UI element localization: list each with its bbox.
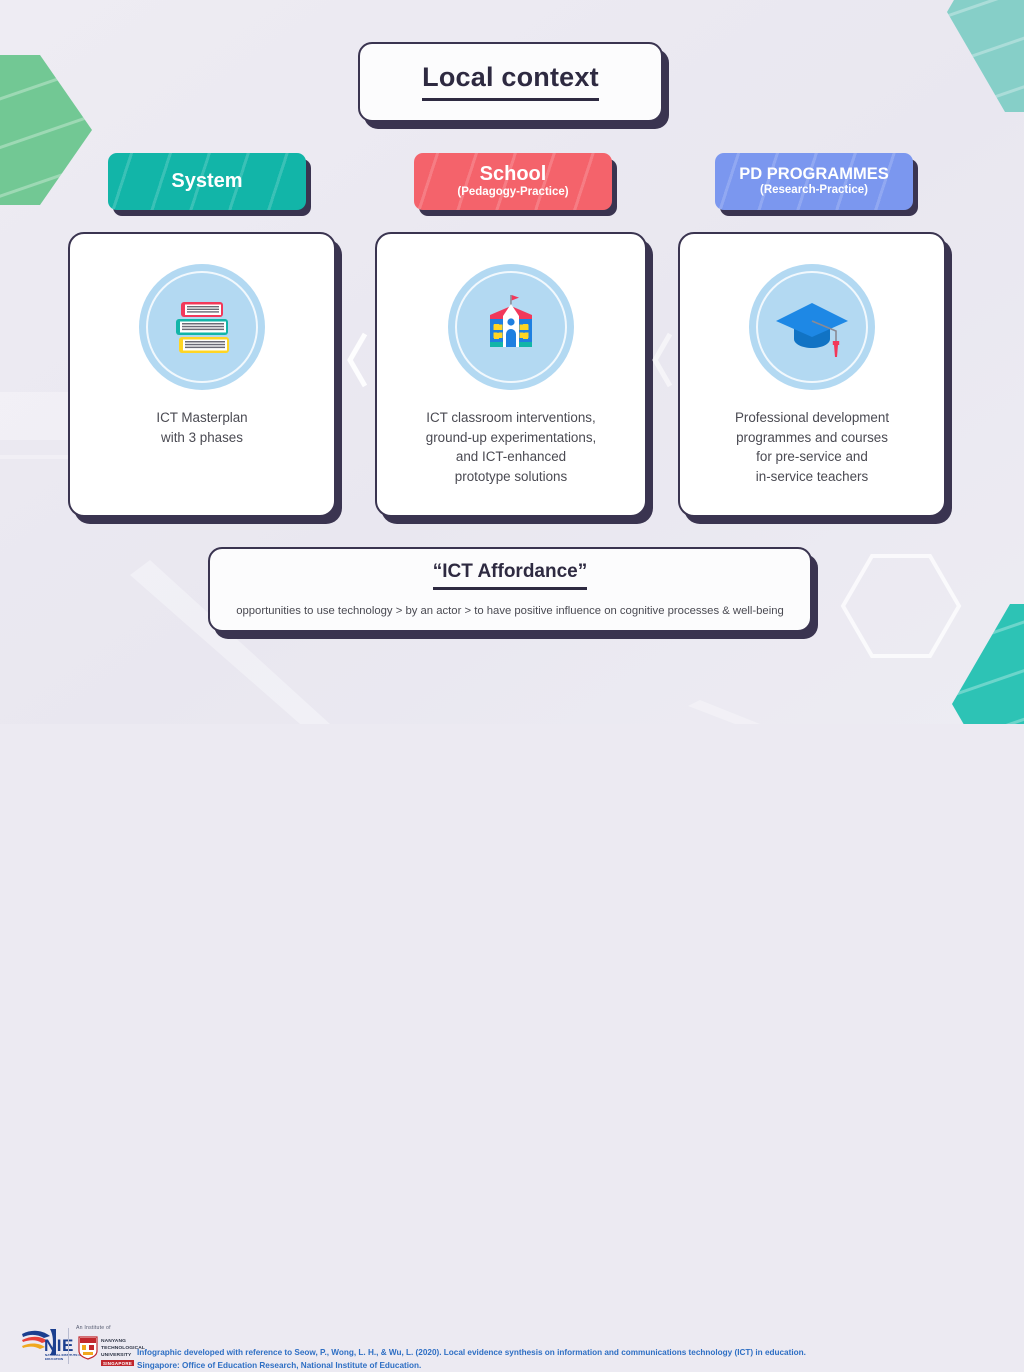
chevron-left-icon-2 [650,330,674,390]
tab-system-title: System [171,170,242,193]
tab-school-title: School [480,163,547,186]
graduation-cap-icon [772,291,852,363]
text-line: prototype solutions [426,467,596,487]
page-title: Local context [422,63,599,101]
text-line: for pre-service and [735,447,889,467]
credit-line-2: Singapore: Office of Education Research,… [137,1360,837,1372]
credit-text: Infographic developed with reference to … [137,1347,837,1372]
text-line: and ICT-enhanced [426,447,596,467]
card-system-text: ICT Masterplan with 3 phases [142,408,261,447]
affordance-title: “ICT Affordance” [433,562,587,591]
tab-system[interactable]: System [108,153,306,210]
stacked-books-icon [165,290,239,364]
affordance-panel: “ICT Affordance” opportunities to use te… [208,547,812,632]
tab-pd-subtitle: (Research-Practice) [760,184,868,198]
text-line: ICT Masterplan [156,408,247,428]
card-pd-text: Professional development programmes and … [721,408,903,486]
text-line: ICT classroom interventions, [426,408,596,428]
card-system: ICT Masterplan with 3 phases [68,232,336,517]
chevron-left-icon-1 [345,330,369,390]
icon-circle [448,264,574,390]
ntu-crest-icon [78,1336,98,1360]
tab-school[interactable]: School (Pedagogy-Practice) [414,153,612,210]
school-building-icon [473,289,549,365]
footer: NIE NATIONAL INSTITUTE OF EDUCATION An I… [0,660,1024,724]
footer-divider [68,1328,69,1364]
tab-pd-programmes[interactable]: PD PROGRAMMES (Research-Practice) [715,153,913,210]
card-school-text: ICT classroom interventions, ground-up e… [412,408,610,486]
ntu-location: SINGAPORE [101,1360,134,1366]
icon-circle [749,264,875,390]
credit-line-1: Infographic developed with reference to … [137,1347,837,1360]
card-school: ICT classroom interventions, ground-up e… [375,232,647,517]
text-line: with 3 phases [156,428,247,448]
page-title-card: Local context [358,42,663,122]
affordance-definition: opportunities to use technology > by an … [236,605,784,617]
card-pd-programmes: Professional development programmes and … [678,232,946,517]
icon-circle [139,264,265,390]
text-line: in-service teachers [735,467,889,487]
institute-of-label: An Institute of [76,1325,111,1331]
tab-pd-title: PD PROGRAMMES [739,165,888,184]
text-line: ground-up experimentations, [426,428,596,448]
text-line: programmes and courses [735,428,889,448]
text-line: Professional development [735,408,889,428]
tab-school-subtitle: (Pedagogy-Practice) [457,186,568,200]
